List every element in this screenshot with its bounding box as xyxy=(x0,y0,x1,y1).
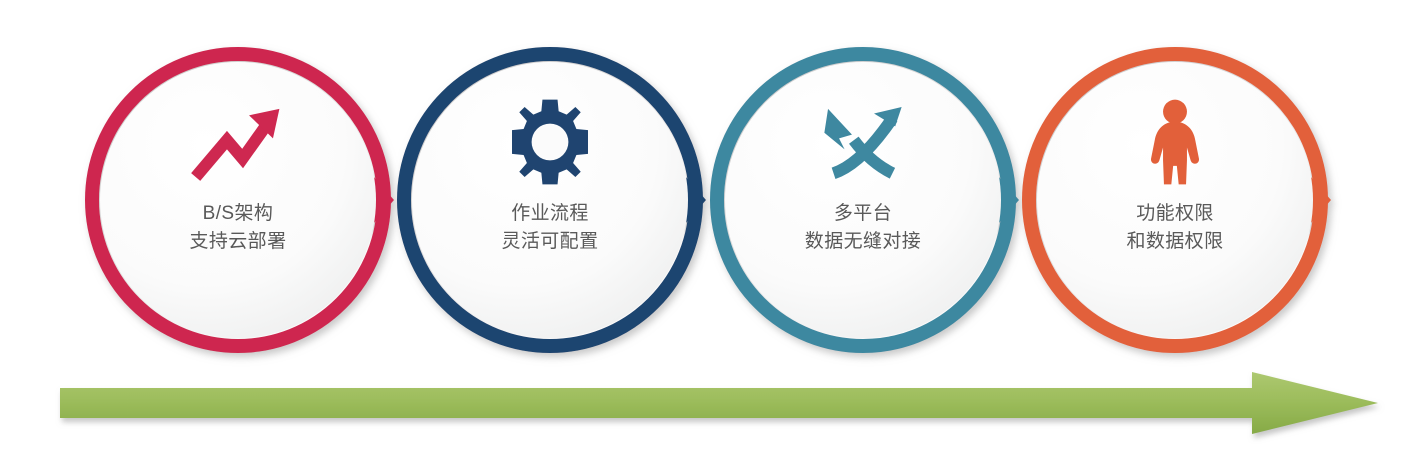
process-step-1[interactable]: B/S架构 支持云部署 xyxy=(78,40,398,360)
step-2-line1: 作业流程 xyxy=(511,203,589,224)
step-1-label: B/S架构 支持云部署 xyxy=(189,200,286,255)
step-4-line2: 和数据权限 xyxy=(1126,228,1223,256)
step-2-label: 作业流程 灵活可配置 xyxy=(501,200,598,255)
process-step-4[interactable]: 功能权限 和数据权限 xyxy=(1015,40,1335,360)
process-step-3[interactable]: 多平台 数据无缝对接 xyxy=(703,40,1023,360)
step-4-line1: 功能权限 xyxy=(1136,203,1214,224)
process-step-2[interactable]: 作业流程 灵活可配置 xyxy=(390,40,710,360)
step-3-label: 多平台 数据无缝对接 xyxy=(805,200,921,255)
crossing-arrows-icon xyxy=(817,96,909,188)
person-icon xyxy=(1129,96,1221,188)
step-2-line2: 灵活可配置 xyxy=(501,228,598,256)
gear-icon xyxy=(504,96,596,188)
progress-arrow xyxy=(0,360,1420,450)
trending-up-arrow-icon xyxy=(192,96,284,188)
step-3-line1: 多平台 xyxy=(834,203,892,224)
step-4-label: 功能权限 和数据权限 xyxy=(1126,200,1223,255)
step-3-line2: 数据无缝对接 xyxy=(805,228,921,256)
step-1-line2: 支持云部署 xyxy=(189,228,286,256)
step-1-line1: B/S架构 xyxy=(203,203,274,224)
infographic-canvas: B/S架构 支持云部署 xyxy=(0,0,1420,464)
